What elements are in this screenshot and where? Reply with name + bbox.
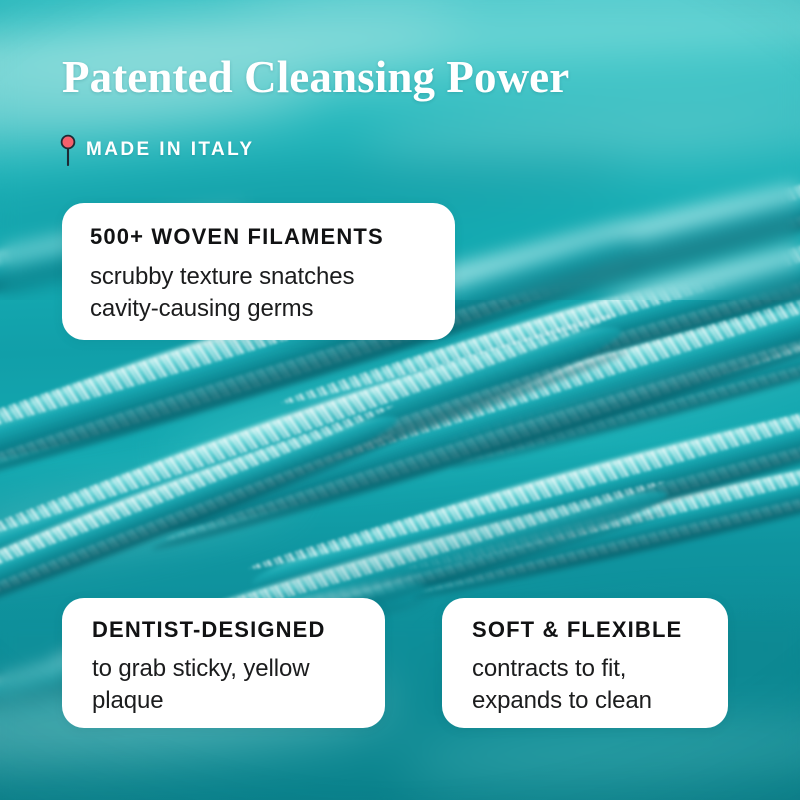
location-pin-icon <box>60 134 76 166</box>
feature-card-body-line: scrubby texture snatches <box>90 261 455 293</box>
product-feature-poster: Patented Cleansing Power MADE IN ITALY 5… <box>0 0 800 800</box>
feature-card-dentist: DENTIST-DESIGNED to grab sticky, yellow … <box>62 598 385 728</box>
feature-card-filaments: 500+ WOVEN FILAMENTS scrubby texture sna… <box>62 203 455 340</box>
feature-card-body-line: plaque <box>92 685 385 717</box>
page-title: Patented Cleansing Power <box>62 54 569 101</box>
feature-card-body-line: expands to clean <box>472 685 728 717</box>
made-in-italy-badge: MADE IN ITALY <box>60 133 254 167</box>
feature-card-heading: SOFT & FLEXIBLE <box>472 618 728 642</box>
feature-card-body-line: cavity-causing germs <box>90 293 455 325</box>
feature-card-body: contracts to fit, expands to clean <box>472 653 728 717</box>
feature-card-body: to grab sticky, yellow plaque <box>92 653 385 717</box>
feature-card-body-line: to grab sticky, yellow <box>92 653 385 685</box>
poster-content: Patented Cleansing Power MADE IN ITALY 5… <box>0 0 800 800</box>
feature-card-body-line: contracts to fit, <box>472 653 728 685</box>
made-in-italy-label: MADE IN ITALY <box>86 139 254 161</box>
feature-card-soft-flexible: SOFT & FLEXIBLE contracts to fit, expand… <box>442 598 728 728</box>
feature-card-body: scrubby texture snatches cavity-causing … <box>90 261 455 325</box>
feature-card-heading: 500+ WOVEN FILAMENTS <box>90 225 455 249</box>
feature-card-heading: DENTIST-DESIGNED <box>92 618 385 642</box>
